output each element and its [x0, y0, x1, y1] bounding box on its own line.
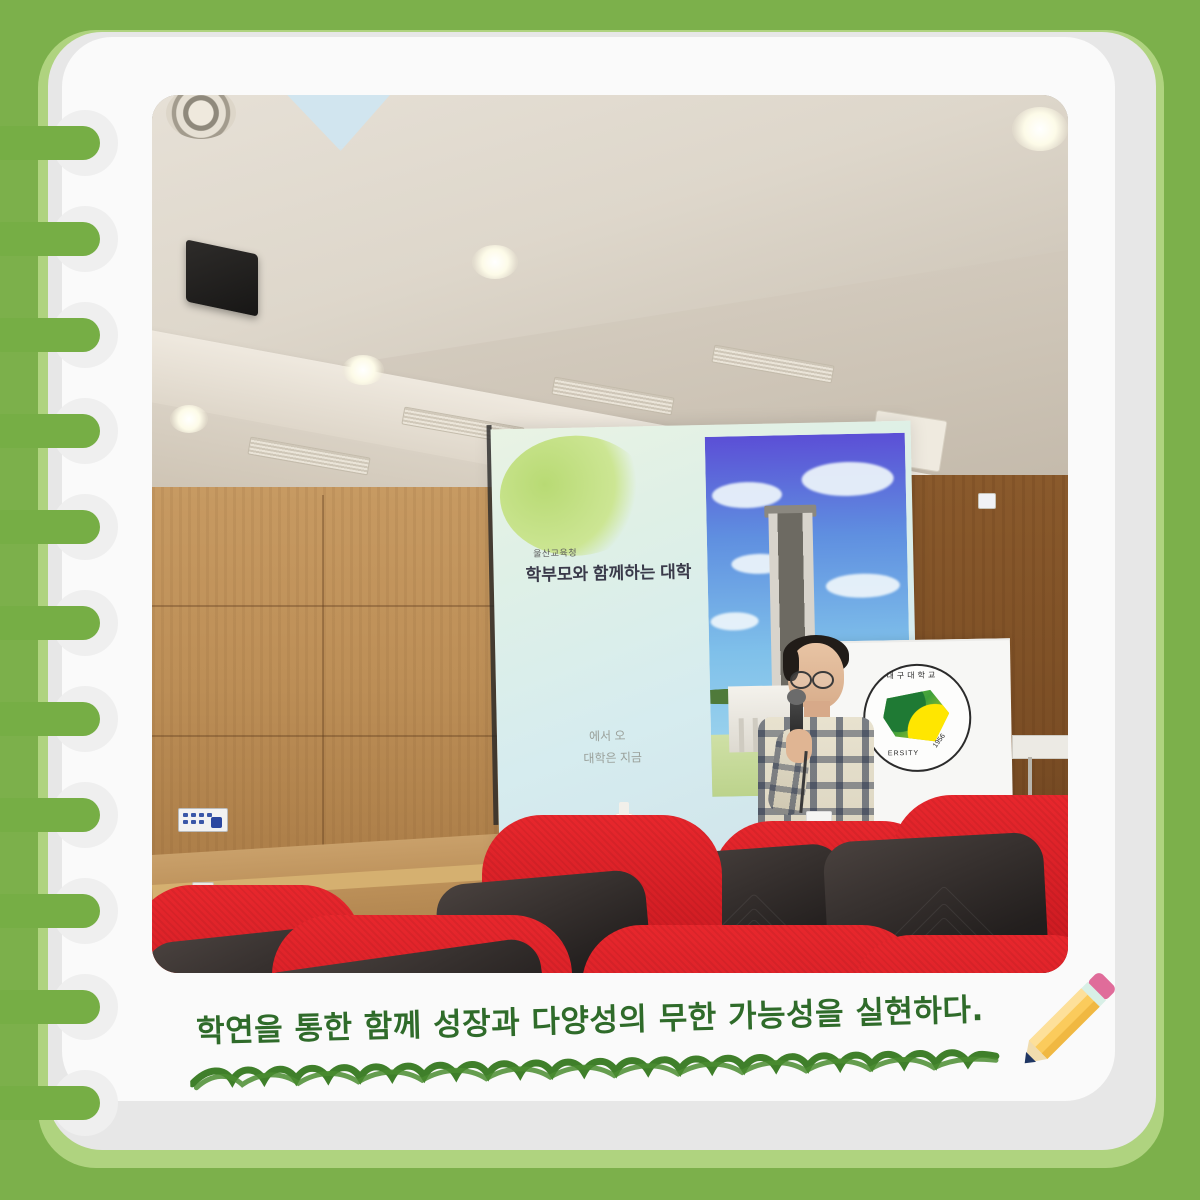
seal-name-text: 대구대학교: [886, 670, 938, 682]
downlight-icon: [1012, 107, 1068, 151]
downlight-icon: [170, 405, 208, 433]
spiral-binding-rings: [0, 0, 160, 1200]
photo-frame: 울산교육청 학부모와 함께하는 대학 에서 오 대학은 지금: [152, 95, 1068, 973]
microphone-head-icon: [787, 689, 806, 705]
seal-latin-text: ERSITY: [888, 750, 919, 758]
notebook-card-page: 울산교육청 학부모와 함께하는 대학 에서 오 대학은 지금: [0, 0, 1200, 1200]
downlight-icon: [342, 355, 384, 385]
downlight-icon: [472, 245, 518, 279]
slide-title: 학부모와 함께하는 대학: [525, 557, 691, 585]
glasses-icon: [812, 671, 834, 689]
side-table: [1012, 735, 1068, 759]
table-leg: [1028, 757, 1032, 797]
glasses-icon: [790, 671, 812, 689]
caption: 학연을 통한 함께 성장과 다양성의 무한 가능성을 실현하다.: [150, 995, 1030, 1040]
wall-seam: [322, 495, 324, 865]
slide-subtitle: 울산교육청: [533, 546, 577, 560]
wall-control-panel[interactable]: [178, 808, 228, 832]
seal-year-text: 1956: [932, 733, 947, 750]
pencil-icon: [1000, 958, 1130, 1088]
seal-text-ring: 대구대학교 1956 ERSITY: [864, 665, 970, 771]
slide-body-line1: 에서 오: [589, 727, 626, 745]
slide-body-line2: 대학은 지금: [583, 748, 642, 766]
slide-arc-decoration: [499, 434, 651, 557]
wall-sign: [978, 493, 996, 509]
